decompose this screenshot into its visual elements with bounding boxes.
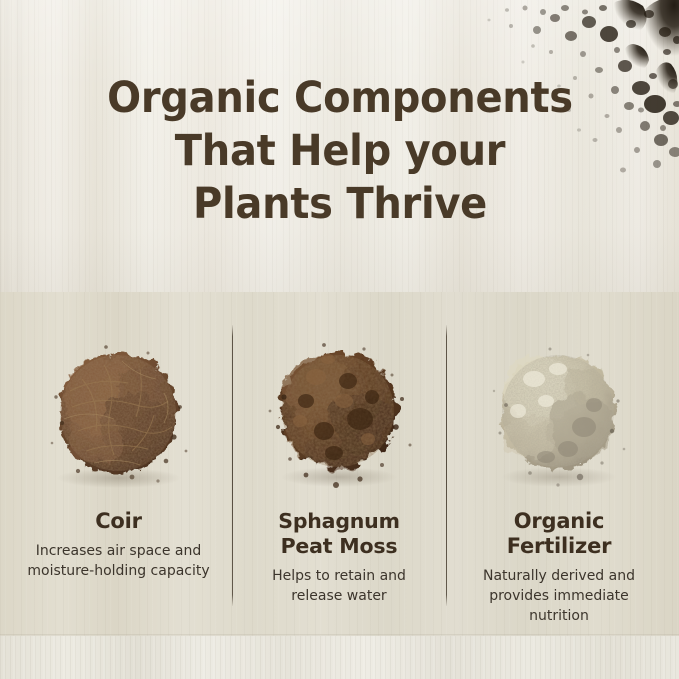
heading-line-1: Organic Components <box>48 72 632 125</box>
coir-pile-icon <box>44 335 194 495</box>
peat-pile-wrap <box>240 330 438 495</box>
component-label: Coir <box>16 509 221 534</box>
component-card-coir: Coir Increases air space and moisture-ho… <box>16 330 221 581</box>
organic-fertilizer-pile-icon <box>484 335 634 495</box>
coir-pile-wrap <box>16 330 221 495</box>
component-description: Increases air space and moisture-holding… <box>16 541 221 581</box>
component-label: Sphagnum Peat Moss <box>240 509 438 559</box>
component-label-line-1: Organic <box>514 509 605 533</box>
component-card-organic-fertilizer: Organic Fertilizer Naturally derived and… <box>455 330 663 626</box>
component-description: Helps to retain and release water <box>240 566 438 606</box>
component-label-line-1: Sphagnum <box>278 509 400 533</box>
page-title: Organic Components That Help your Plants… <box>26 72 654 231</box>
column-divider-2 <box>446 325 447 606</box>
component-description: Naturally derived and provides immediate… <box>455 566 663 626</box>
fertilizer-pile-wrap <box>455 330 663 495</box>
component-label-line-2: Fertilizer <box>507 534 612 558</box>
column-divider-1 <box>232 325 233 606</box>
component-label-line-2: Peat Moss <box>281 534 398 558</box>
sphagnum-peat-moss-pile-icon <box>264 335 414 495</box>
component-label: Organic Fertilizer <box>455 509 663 559</box>
bottom-strip <box>0 636 679 679</box>
heading-line-2: That Help your <box>48 125 632 178</box>
component-card-sphagnum-peat-moss: Sphagnum Peat Moss Helps to retain and r… <box>240 330 438 606</box>
heading-line-3: Plants Thrive <box>48 178 632 231</box>
infographic-root: Organic Components That Help your Plants… <box>0 0 679 679</box>
